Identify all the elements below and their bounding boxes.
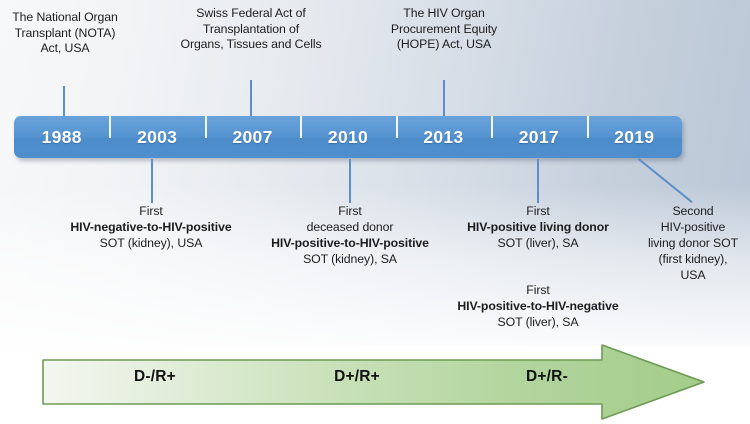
- bottom-event-line: Second: [637, 203, 749, 219]
- bottom-event-line: living donor SOT: [637, 235, 749, 251]
- bottom-event-caption-2003: First HIV-negative-to-HIV-positive SOT (…: [42, 203, 260, 251]
- top-event-line: (HOPE) Act, USA: [370, 37, 518, 53]
- top-event-caption-2007: Swiss Federal Act of Transplantation of …: [165, 6, 337, 53]
- bottom-event-line: deceased donor: [241, 219, 459, 235]
- bottom-event-line: HIV-positive-to-HIV-negative: [432, 298, 644, 314]
- bottom-event-caption-2017-hiv-neg: First HIV-positive-to-HIV-negative SOT (…: [432, 282, 644, 330]
- arrow-segment-label-3: D+/R-: [452, 368, 642, 386]
- timeline-year-2010[interactable]: 2010: [300, 127, 395, 148]
- bottom-event-line: HIV-positive: [637, 219, 749, 235]
- top-event-line: The National Organ: [0, 10, 130, 26]
- timeline-year-2003[interactable]: 2003: [109, 127, 204, 148]
- connector-line-2013: [443, 80, 445, 116]
- top-event-caption-1988: The National Organ Transplant (NOTA) Act…: [0, 10, 130, 57]
- timeline-year-2007[interactable]: 2007: [205, 127, 300, 148]
- connector-line-2007: [250, 80, 252, 116]
- bottom-event-caption-2019: Second HIV-positive living donor SOT (fi…: [637, 203, 749, 283]
- timeline-year-2017[interactable]: 2017: [491, 127, 586, 148]
- top-event-line: Swiss Federal Act of: [165, 6, 337, 22]
- arrow-segment-label-1: D-/R+: [60, 368, 250, 386]
- bottom-event-caption-2017-living-donor: First HIV-positive living donor SOT (liv…: [443, 203, 633, 251]
- bottom-event-line: SOT (liver), SA: [432, 314, 644, 330]
- timeline-year-2019[interactable]: 2019: [587, 127, 682, 148]
- connector-line-2010: [349, 159, 351, 203]
- top-event-line: The HIV Organ: [370, 6, 518, 22]
- bottom-event-line: HIV-positive-to-HIV-positive: [241, 235, 459, 251]
- arrow-segment-label-2: D+/R+: [262, 368, 452, 386]
- bottom-event-line: (first kidney),: [637, 251, 749, 267]
- connector-line-1988: [63, 86, 65, 116]
- bottom-event-line: SOT (kidney), SA: [241, 251, 459, 267]
- timeline-year-1988[interactable]: 1988: [14, 127, 109, 148]
- top-event-line: Transplant (NOTA): [0, 26, 130, 42]
- timeline-bar: 1988 2003 2007 2010 2013 2017 2019: [14, 116, 682, 158]
- top-event-line: Transplantation of: [165, 22, 337, 38]
- bottom-event-line: First: [42, 203, 260, 219]
- bottom-event-line: USA: [637, 267, 749, 283]
- bottom-event-line: First: [443, 203, 633, 219]
- connector-line-2003: [151, 159, 153, 203]
- bottom-event-line: SOT (liver), SA: [443, 235, 633, 251]
- timeline-year-2013[interactable]: 2013: [396, 127, 491, 148]
- connector-line-2017: [537, 159, 539, 203]
- bottom-event-line: SOT (kidney), USA: [42, 235, 260, 251]
- bottom-event-line: HIV-negative-to-HIV-positive: [42, 219, 260, 235]
- bottom-event-line: First: [241, 203, 459, 219]
- timeline-figure: The National Organ Transplant (NOTA) Act…: [0, 0, 750, 424]
- top-event-caption-2013: The HIV Organ Procurement Equity (HOPE) …: [370, 6, 518, 53]
- bottom-event-line: HIV-positive living donor: [443, 219, 633, 235]
- bottom-event-caption-2010: First deceased donor HIV-positive-to-HIV…: [241, 203, 459, 267]
- bottom-event-line: First: [432, 282, 644, 298]
- top-event-line: Act, USA: [0, 41, 130, 57]
- top-event-line: Procurement Equity: [370, 22, 518, 38]
- top-event-line: Organs, Tissues and Cells: [165, 37, 337, 53]
